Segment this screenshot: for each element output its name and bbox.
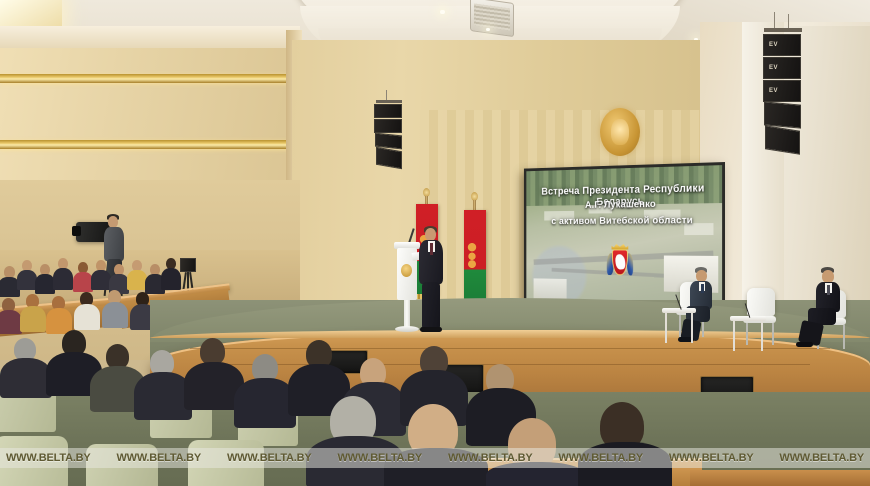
- watermark-text: WWW.BELTA.BY: [779, 452, 864, 464]
- wall-light-groove: [0, 74, 300, 83]
- vitebsk-region-coat-of-arms-icon: [605, 243, 635, 285]
- left-wall-cornice: [0, 26, 300, 48]
- photograph-conference-hall: Встреча Президента Республики Беларусь А…: [0, 0, 870, 486]
- watermark-text: WWW.BELTA.BY: [227, 452, 312, 464]
- watermark-band: WWW.BELTA.BY WWW.BELTA.BY WWW.BELTA.BY W…: [0, 448, 870, 468]
- watermark-text: WWW.BELTA.BY: [448, 452, 533, 464]
- speaker-brand-label: EV: [769, 65, 778, 71]
- audience-foreground-bottom: [300, 392, 870, 486]
- line-array-speaker-left: [372, 100, 406, 172]
- watermark-text: WWW.BELTA.BY: [116, 452, 201, 464]
- speaker-brand-label: EV: [769, 88, 778, 94]
- watermark-text: WWW.BELTA.BY: [558, 452, 643, 464]
- podium-state-emblem-icon: [401, 264, 412, 277]
- watermark-text: WWW.BELTA.BY: [669, 452, 754, 464]
- watermark-text: WWW.BELTA.BY: [337, 452, 422, 464]
- screen-title-line-3: с активом Витебской области: [526, 215, 722, 227]
- state-emblem-of-belarus-icon: [600, 108, 640, 156]
- wall-light-groove: [0, 140, 300, 149]
- seated-official-2: [814, 268, 844, 350]
- screen-title-line-2: А.Г. Лукашенко: [526, 198, 722, 211]
- camera-lens-icon: [72, 226, 81, 236]
- watermark-text: WWW.BELTA.BY: [6, 452, 91, 464]
- ceiling-light: [440, 10, 445, 14]
- speaker-at-podium: [417, 228, 447, 334]
- side-table-2: [730, 316, 766, 352]
- side-table-1: [662, 308, 696, 344]
- line-array-speaker-right: EV EV EV: [762, 28, 808, 158]
- speaker-brand-label: EV: [769, 42, 778, 48]
- ceiling-light: [486, 28, 490, 31]
